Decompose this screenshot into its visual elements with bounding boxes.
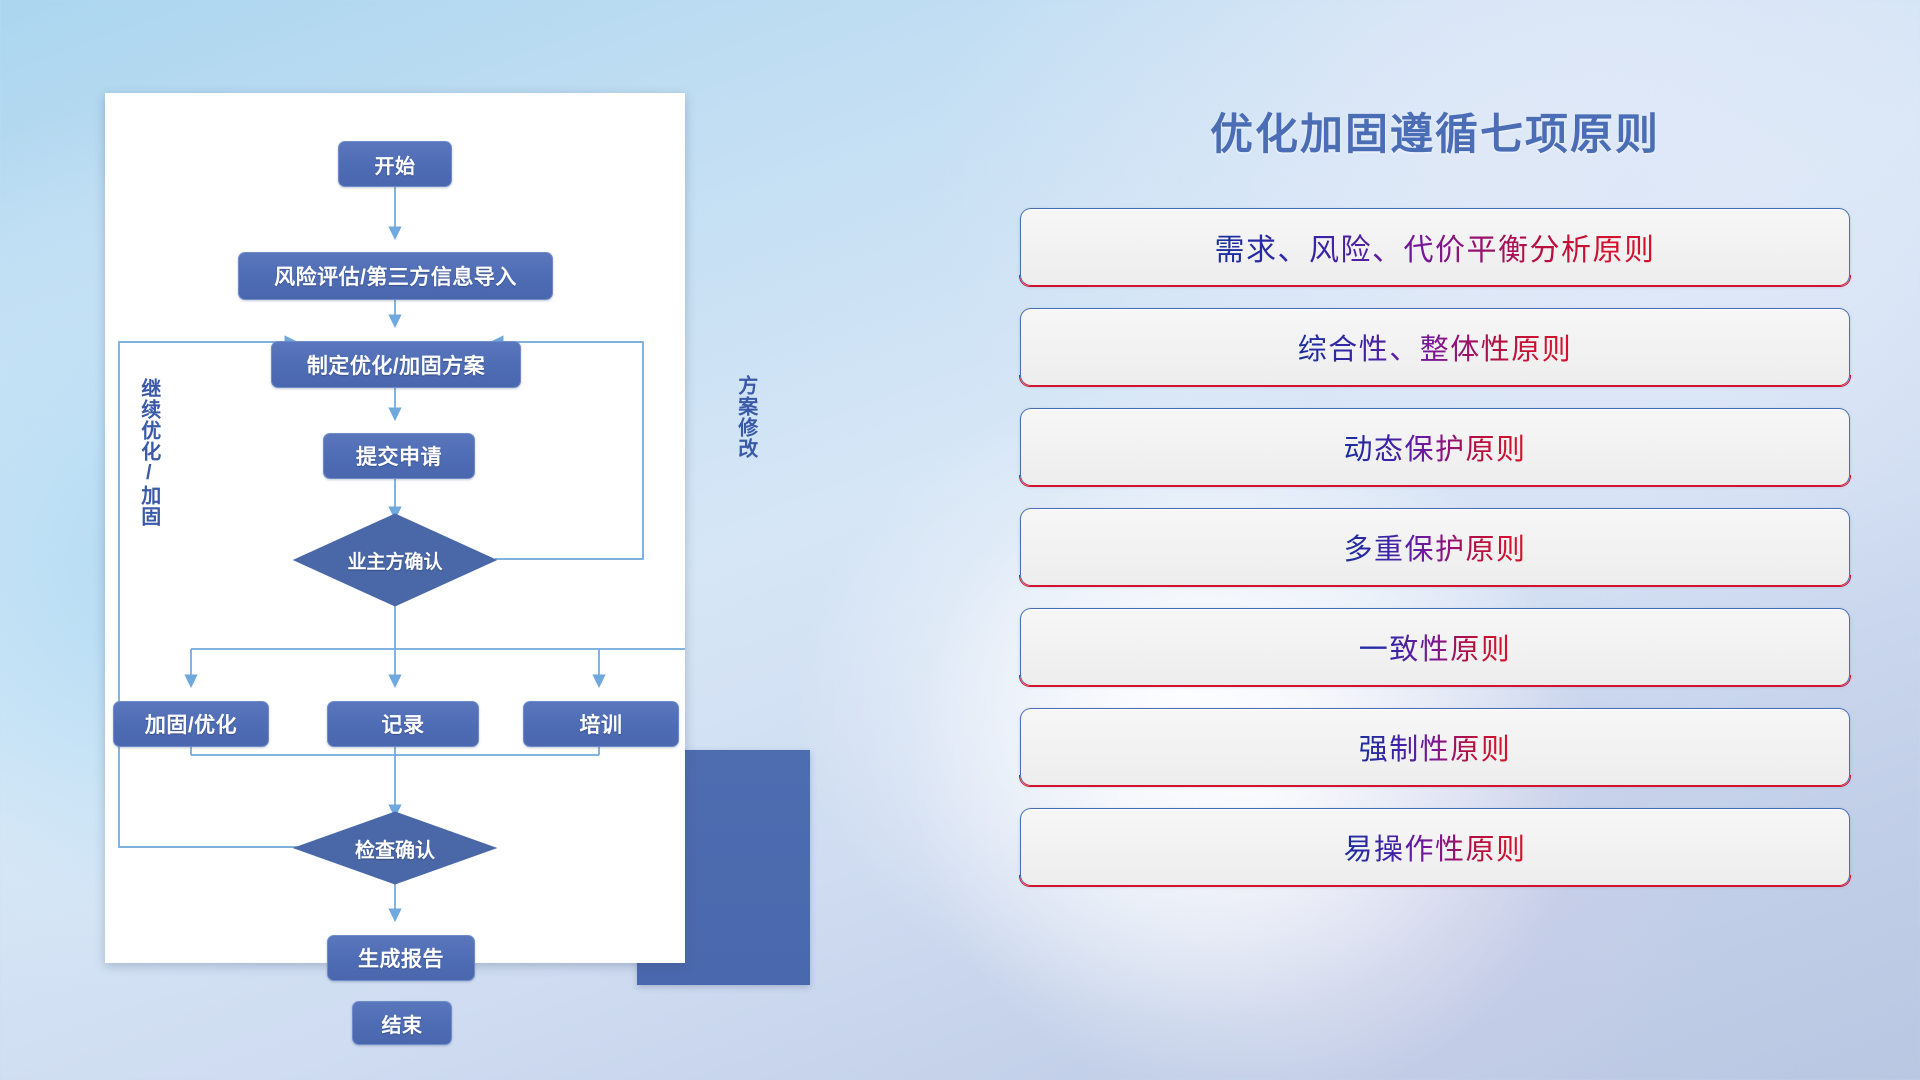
principles-panel: 优化加固遵循七项原则 需求、风险、代价平衡分析原则 综合性、整体性原则 动态保护… [1020, 100, 1850, 908]
flow-node-make-plan[interactable]: 制定优化/加固方案 [271, 341, 521, 388]
principle-item-6-label: 强制性原则 [1359, 726, 1512, 768]
flow-node-generate-report[interactable]: 生成报告 [327, 935, 475, 981]
flow-node-start[interactable]: 开始 [338, 141, 452, 187]
flow-node-check-confirm[interactable] [293, 811, 497, 885]
principle-item-2-label: 综合性、整体性原则 [1298, 326, 1573, 368]
principle-item-1[interactable]: 需求、风险、代价平衡分析原则 [1020, 208, 1850, 286]
principle-item-4[interactable]: 多重保护原则 [1020, 508, 1850, 586]
principle-item-6[interactable]: 强制性原则 [1020, 708, 1850, 786]
principle-item-7-label: 易操作性原则 [1343, 826, 1526, 868]
flow-node-risk-assessment[interactable]: 风险评估/第三方信息导入 [238, 252, 553, 300]
principle-item-3-label: 动态保护原则 [1343, 426, 1526, 468]
principle-item-5-label: 一致性原则 [1359, 626, 1512, 668]
flow-node-owner-confirm[interactable] [293, 513, 497, 607]
flow-node-training[interactable]: 培训 [523, 701, 679, 747]
principle-item-2[interactable]: 综合性、整体性原则 [1020, 308, 1850, 386]
flow-node-record[interactable]: 记录 [327, 701, 479, 747]
flow-edge-label-continue-optimize: 继续优化/加固 [138, 378, 159, 527]
flow-node-submit-application[interactable]: 提交申请 [323, 433, 475, 479]
flow-node-end[interactable]: 结束 [352, 1001, 452, 1045]
flow-node-reinforce-optimize[interactable]: 加固/优化 [113, 701, 269, 747]
flow-edge-label-plan-revision: 方案修改 [735, 375, 756, 459]
principles-title: 优化加固遵循七项原则 [1020, 100, 1850, 162]
principle-item-7[interactable]: 易操作性原则 [1020, 808, 1850, 886]
principle-item-5[interactable]: 一致性原则 [1020, 608, 1850, 686]
principle-item-4-label: 多重保护原则 [1343, 526, 1526, 568]
principle-item-1-label: 需求、风险、代价平衡分析原则 [1215, 225, 1656, 269]
principle-item-3[interactable]: 动态保护原则 [1020, 408, 1850, 486]
flowchart-card: 开始 风险评估/第三方信息导入 制定优化/加固方案 提交申请 加固/优化 记录 … [105, 93, 685, 963]
